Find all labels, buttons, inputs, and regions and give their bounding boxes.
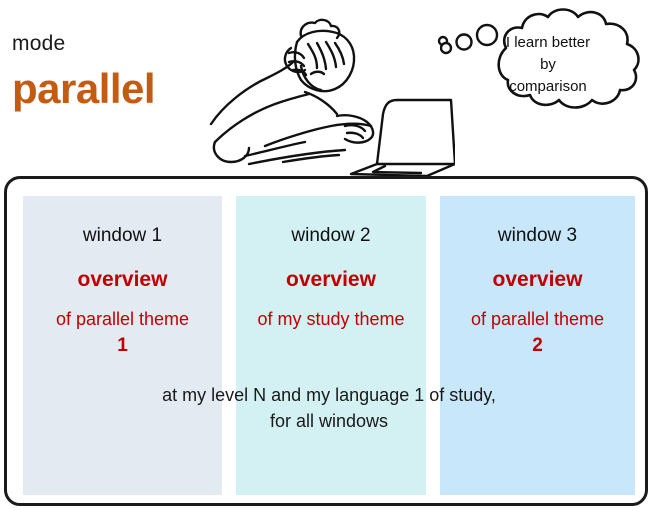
thought-bubble-text: I learn better by comparison: [440, 4, 656, 122]
window-2-subtitle: of my study theme: [236, 308, 426, 331]
window-panel-2[interactable]: window 2 overview of my study theme: [236, 196, 426, 495]
windows-row: window 1 overview of parallel theme 1 wi…: [23, 196, 635, 495]
window-panel-1[interactable]: window 1 overview of parallel theme 1: [23, 196, 222, 495]
thought-line-1: I learn better: [506, 32, 590, 54]
thought-line-3: comparison: [509, 76, 587, 98]
window-2-overview-label: overview: [236, 269, 426, 290]
window-3-subtitle: of parallel theme: [440, 308, 635, 331]
window-1-subtitle: of parallel theme: [23, 308, 222, 331]
window-1-theme-number: 1: [23, 336, 222, 355]
thought-bubble: I learn better by comparison: [440, 4, 656, 122]
parallel-mode-panel: window 1 overview of parallel theme 1 wi…: [4, 176, 648, 506]
person-studying-at-laptop-illustration: [205, 0, 455, 176]
window-1-title: window 1: [23, 226, 222, 245]
mode-label: mode: [12, 33, 65, 54]
window-2-title: window 2: [236, 226, 426, 245]
thought-line-2: by: [540, 54, 556, 76]
window-3-title: window 3: [440, 226, 635, 245]
mode-value: parallel: [12, 68, 155, 110]
window-1-overview-label: overview: [23, 269, 222, 290]
header: mode parallel: [0, 0, 656, 176]
window-panel-3[interactable]: window 3 overview of parallel theme 2: [440, 196, 635, 495]
window-3-theme-number: 2: [440, 336, 635, 355]
window-3-overview-label: overview: [440, 269, 635, 290]
